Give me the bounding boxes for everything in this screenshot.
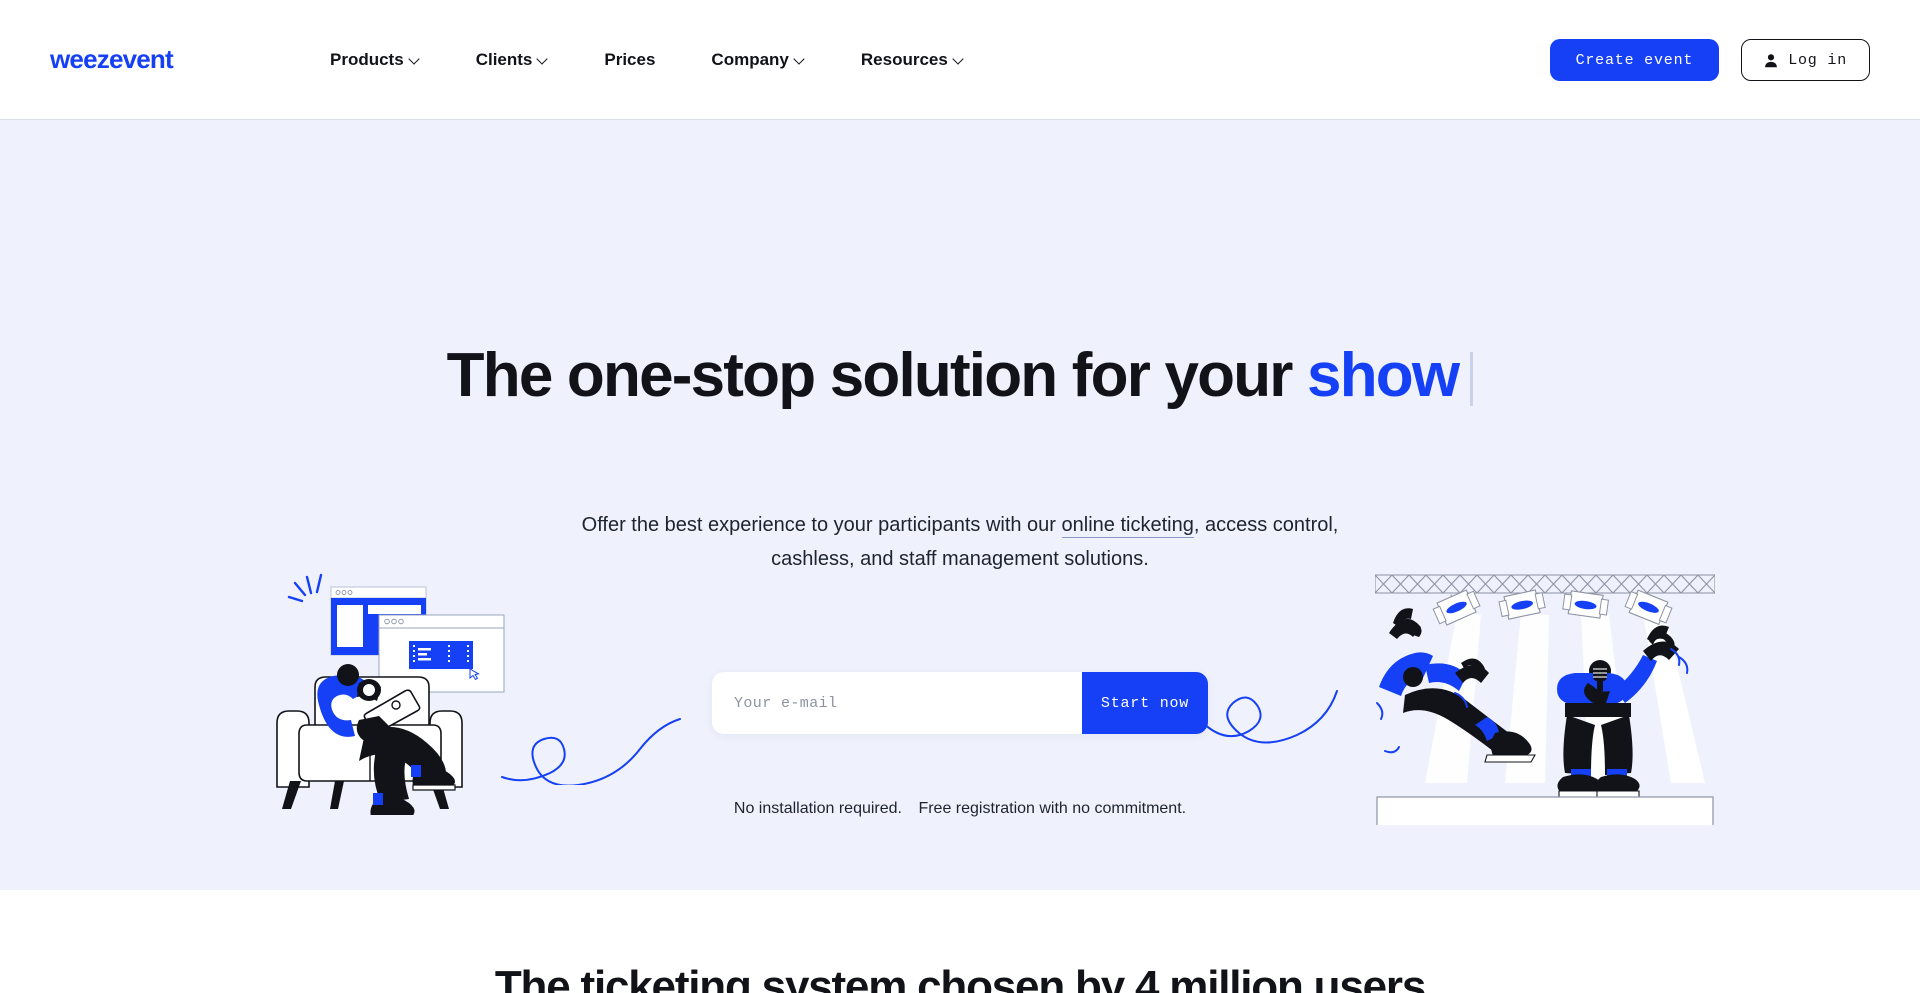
nav-item-resources[interactable]: Resources [833,50,992,70]
performer-singer [1557,626,1687,798]
shoe [1595,774,1639,793]
spotlight-beams [1425,613,1705,783]
illustration-person-on-sofa [255,565,595,815]
nav-item-products[interactable]: Products [330,50,448,70]
headline-prefix: The one-stop solution for your [447,341,1307,410]
log-in-button[interactable]: Log in [1741,39,1870,81]
nav-item-label: Clients [476,50,533,70]
hand [1584,683,1610,704]
top-navigation-bar: weezevent Products Clients Prices Compan… [0,0,1920,120]
nav-item-label: Prices [604,50,655,70]
sparkle-icon [289,575,321,601]
nav-item-company[interactable]: Company [683,50,832,70]
nav-action-buttons: Create event Log in [1550,0,1870,120]
shoe [412,768,455,789]
email-signup-form: Start now [712,672,1208,734]
illustration-stage-performers [1375,565,1715,825]
chevron-down-icon [954,54,964,64]
subtitle-text-before: Offer the best experience to your partic… [582,514,1062,536]
nav-item-clients[interactable]: Clients [448,50,577,70]
nav-item-prices[interactable]: Prices [576,50,683,70]
log-in-label: Log in [1788,52,1847,69]
footnote-no-installation: No installation required. [734,800,902,817]
nav-item-label: Products [330,50,404,70]
sofa [277,677,462,809]
start-now-button[interactable]: Start now [1082,672,1208,734]
form-footnote: No installation required. Free registrat… [0,800,1920,818]
headline-accent-word: show [1307,341,1458,410]
spotlight-fixtures [1431,586,1674,628]
person-seated [317,664,455,815]
hero-section: The one-stop solution for your show Offe… [0,120,1920,890]
browser-window-back [331,587,426,655]
chevron-down-icon [410,54,420,64]
footnote-free-registration: Free registration with no commitment. [918,800,1186,817]
shoe [1557,774,1601,793]
typing-caret [1470,352,1473,406]
cursor-icon [470,669,479,680]
hero-subtitle: Offer the best experience to your partic… [580,508,1340,576]
user-icon [1764,53,1778,68]
create-event-button[interactable]: Create event [1550,39,1720,81]
brand-logo[interactable]: weezevent [50,46,173,72]
performer-jumping [1377,608,1535,762]
motion-lines [1377,693,1467,752]
online-ticketing-link[interactable]: online ticketing [1062,514,1194,538]
motion-lines [1671,649,1687,673]
shoe [1491,731,1532,759]
nav-item-label: Resources [861,50,948,70]
social-proof-section: The ticketing system chosen by 4 million… [0,890,1920,993]
section-title: The ticketing system chosen by 4 million… [0,962,1920,993]
microphone [1593,665,1607,691]
nav-item-label: Company [711,50,788,70]
person-head [337,664,359,686]
ticket-graphic [409,641,473,669]
laptop [364,690,419,734]
browser-window-front [379,615,504,692]
chevron-down-icon [538,54,548,64]
performer-head [1589,660,1611,682]
email-input[interactable] [712,672,1082,734]
lighting-truss [1375,575,1715,593]
decorative-squiggle-right [1195,635,1415,775]
performer-head [1403,667,1423,687]
main-nav-links: Products Clients Prices Company Resource… [330,0,992,120]
page-title: The one-stop solution for your show [0,342,1920,410]
decorative-squiggle-left [500,645,730,785]
chevron-down-icon [795,54,805,64]
